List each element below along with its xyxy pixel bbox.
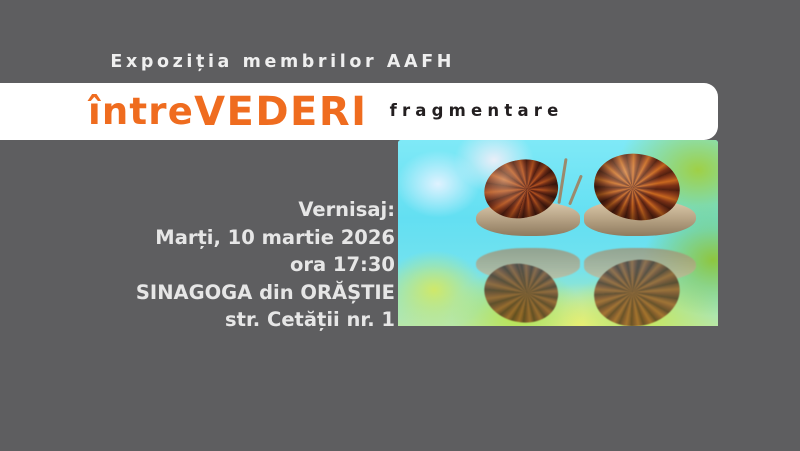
event-details: Vernisaj: Marți, 10 martie 2026 ora 17:3… [40,196,395,334]
title-part-vederi: VEDERI [194,92,368,132]
title-subtitle: fragmentare [390,103,564,120]
detail-line-venue: SINAGOGA din ORĂȘTIE [40,279,395,307]
title-part-intre: între [88,93,194,130]
poster-canvas: Expoziția membrilor AAFH întreVEDERI fra… [0,0,800,451]
snail-photograph [398,140,718,326]
title-band: întreVEDERI fragmentare [0,83,718,140]
detail-line-address: str. Cetății nr. 1 [40,306,395,334]
title-inner: întreVEDERI fragmentare [0,83,718,140]
detail-line-vernisaj: Vernisaj: [40,196,395,224]
detail-line-time: ora 17:30 [40,251,395,279]
detail-line-date: Marți, 10 martie 2026 [40,224,395,252]
exhibition-kicker: Expoziția membrilor AAFH [0,52,455,72]
photo-panel: Consiliul Județean Hunedoara MUZEUL CIVI… [398,140,718,384]
